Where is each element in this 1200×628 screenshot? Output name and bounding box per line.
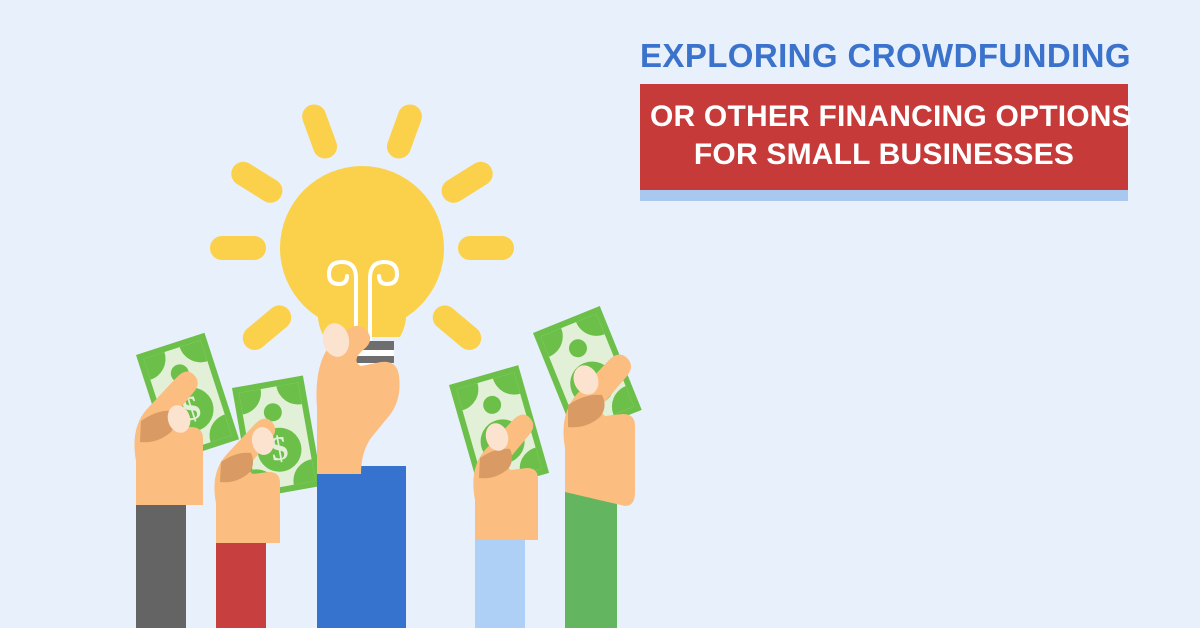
light-blue-sleeve (475, 532, 525, 628)
subtitle-banner: OR OTHER FINANCING OPTIONS FOR SMALL BUS… (640, 84, 1128, 190)
subtitle-line-2: FOR SMALL BUSINESSES (650, 136, 1118, 174)
blue-sleeve (317, 466, 406, 628)
illustration-hands-money-lightbulb: $ (0, 0, 700, 628)
poster-canvas: $ (0, 0, 1200, 628)
green-sleeve (565, 484, 617, 628)
hand-green-sleeve (533, 306, 642, 628)
page-title: EXPLORING CROWDFUNDING (640, 30, 1128, 84)
text-block: EXPLORING CROWDFUNDING OR OTHER FINANCIN… (640, 30, 1128, 201)
gray-sleeve (136, 497, 186, 628)
red-sleeve (216, 535, 266, 628)
hand-blue-sleeve-holding-bulb (316, 321, 406, 628)
underline-bar (640, 190, 1128, 201)
subtitle-line-1: OR OTHER FINANCING OPTIONS (650, 98, 1118, 136)
hand-light-blue-sleeve (449, 365, 549, 628)
